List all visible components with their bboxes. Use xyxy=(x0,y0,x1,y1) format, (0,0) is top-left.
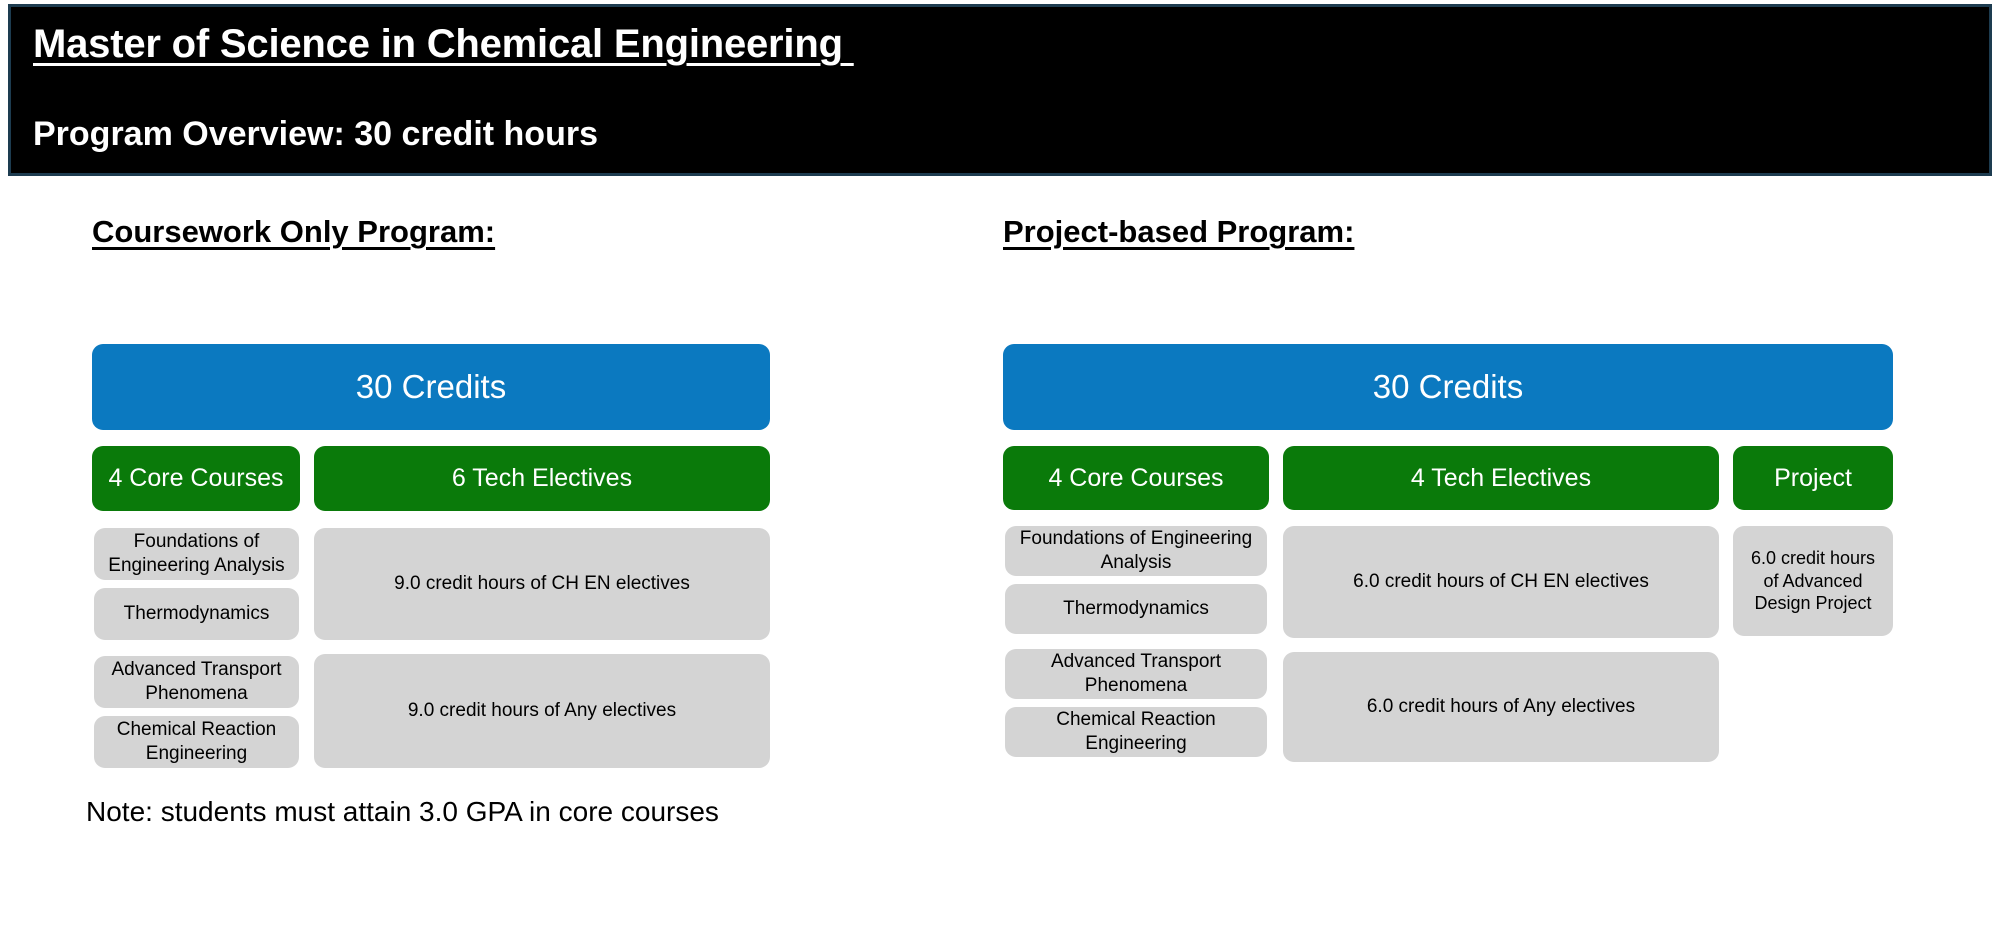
elective-block-item: 6.0 credit hours of CH EN electives xyxy=(1283,526,1719,638)
credits-box-project-based: 30 Credits xyxy=(1003,344,1893,430)
program-columns: Coursework Only Program: 30 Credits 4 Co… xyxy=(0,176,2000,941)
tech-electives-header-coursework-only: 6 Tech Electives xyxy=(314,446,770,511)
core-courses-header-coursework-only: 4 Core Courses xyxy=(92,446,300,511)
elective-block-item: 9.0 credit hours of CH EN electives xyxy=(314,528,770,640)
core-course-item: Foundations of Engineering Analysis xyxy=(94,528,299,580)
program-column-coursework-only: Coursework Only Program: 30 Credits 4 Co… xyxy=(92,176,862,250)
elective-block-item: 6.0 credit hours of Any electives xyxy=(1283,652,1719,762)
column-title-project-based: Project-based Program: xyxy=(1003,176,1903,250)
header-banner: Master of Science in Chemical Engineerin… xyxy=(8,4,1992,176)
column-title-coursework-only: Coursework Only Program: xyxy=(92,176,862,250)
elective-block-item: 9.0 credit hours of Any electives xyxy=(314,654,770,768)
page-title: Master of Science in Chemical Engineerin… xyxy=(33,21,1969,67)
core-courses-header-project-based: 4 Core Courses xyxy=(1003,446,1269,510)
core-course-item: Foundations of Engineering Analysis xyxy=(1005,526,1267,576)
core-course-item: Advanced Transport Phenomena xyxy=(94,656,299,708)
program-column-project-based: Project-based Program: 30 Credits 4 Core… xyxy=(1003,176,1903,250)
core-course-item: Chemical Reaction Engineering xyxy=(94,716,299,768)
tech-electives-header-project-based: 4 Tech Electives xyxy=(1283,446,1719,510)
page-subtitle: Program Overview: 30 credit hours xyxy=(33,67,1969,154)
core-course-item: Thermodynamics xyxy=(1005,584,1267,634)
project-block-item: 6.0 credit hours of Advanced Design Proj… xyxy=(1733,526,1893,636)
gpa-note: Note: students must attain 3.0 GPA in co… xyxy=(86,796,719,828)
core-course-item: Thermodynamics xyxy=(94,588,299,640)
project-header-project-based: Project xyxy=(1733,446,1893,510)
credits-box-coursework-only: 30 Credits xyxy=(92,344,770,430)
core-course-item: Chemical Reaction Engineering xyxy=(1005,707,1267,757)
core-course-item: Advanced Transport Phenomena xyxy=(1005,649,1267,699)
